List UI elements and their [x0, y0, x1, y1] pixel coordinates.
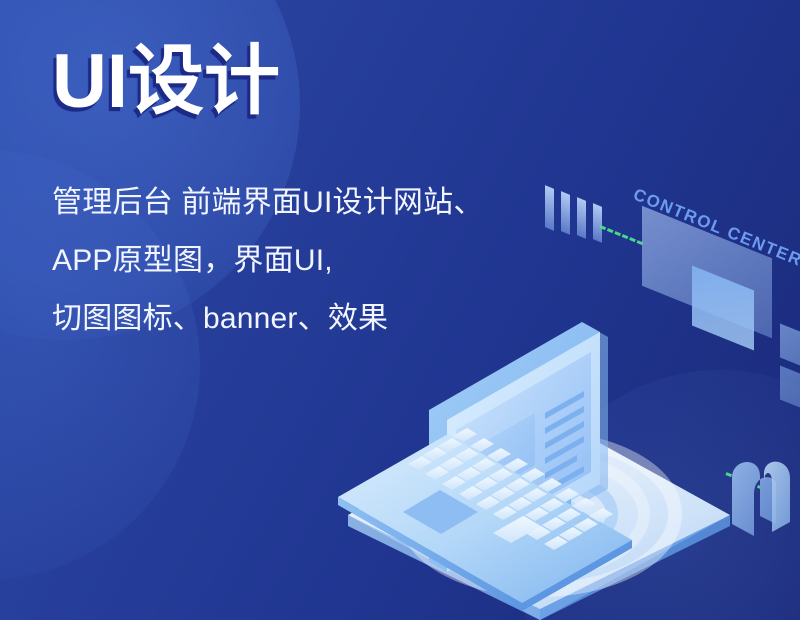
iso-panel-side-bottom	[780, 365, 800, 424]
page-title: UI设计	[52, 44, 612, 120]
decorative-bar-1	[545, 185, 554, 231]
ui-design-banner: UI设计 管理后台 前端界面UI设计网站、 APP原型图，界面UI, 切图图标、…	[0, 0, 800, 620]
decorative-bar-4	[593, 203, 602, 243]
headline-block: UI设计	[52, 44, 612, 120]
decorative-bar-3	[577, 197, 586, 239]
decorative-bar-2	[561, 191, 570, 235]
isometric-laptop-illustration	[330, 300, 750, 620]
